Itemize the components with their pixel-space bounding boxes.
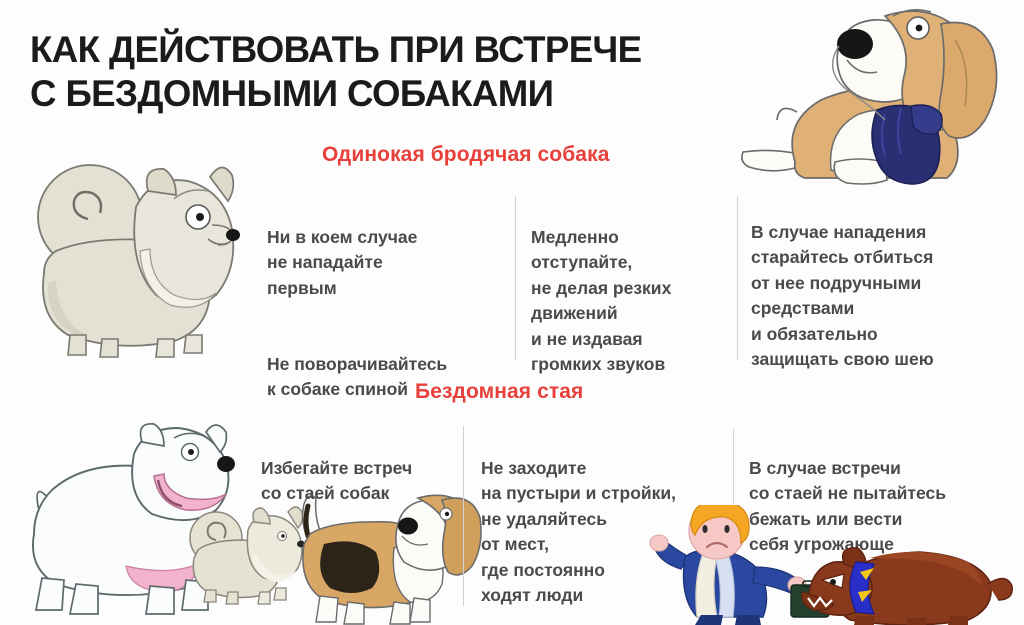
section-1-column-2: Медленно отступайте, не делая резких дви… xyxy=(531,199,736,403)
column-divider xyxy=(737,196,738,360)
cream-spitz-dog-illustration xyxy=(24,155,260,363)
advice-text: Ни в коем случае не нападайте первым xyxy=(267,225,517,302)
angry-brown-dogs-illustration xyxy=(800,538,1024,625)
advice-text: В случае нападения старайтесь отбиться о… xyxy=(751,220,1013,373)
section-1-column-3: В случае нападения старайтесь отбиться о… xyxy=(751,194,1013,398)
section-heading-stray-pack: Бездомная стая xyxy=(415,380,583,404)
advice-text: Избегайте встреч со стаей собак xyxy=(261,456,461,507)
beagle-with-boxing-gloves-illustration xyxy=(735,2,1024,187)
page-title-line-1: КАК ДЕЙСТВОВАТЬ ПРИ ВСТРЕЧЕ xyxy=(30,28,743,72)
section-heading-single-dog: Одинокая бродячая собака xyxy=(322,143,609,167)
page-title: КАК ДЕЙСТВОВАТЬ ПРИ ВСТРЕЧЕ С БЕЗДОМНЫМИ… xyxy=(30,28,743,115)
advice-text: Медленно отступайте, не делая резких дви… xyxy=(531,225,736,378)
column-divider xyxy=(463,426,464,606)
column-divider xyxy=(515,196,516,360)
page-title-line-2: С БЕЗДОМНЫМИ СОБАКАМИ xyxy=(30,72,743,116)
infographic-page: КАК ДЕЙСТВОВАТЬ ПРИ ВСТРЕЧЕ С БЕЗДОМНЫМИ… xyxy=(0,0,1024,625)
section-2-column-1: Избегайте встреч со стаей собак xyxy=(261,430,461,532)
